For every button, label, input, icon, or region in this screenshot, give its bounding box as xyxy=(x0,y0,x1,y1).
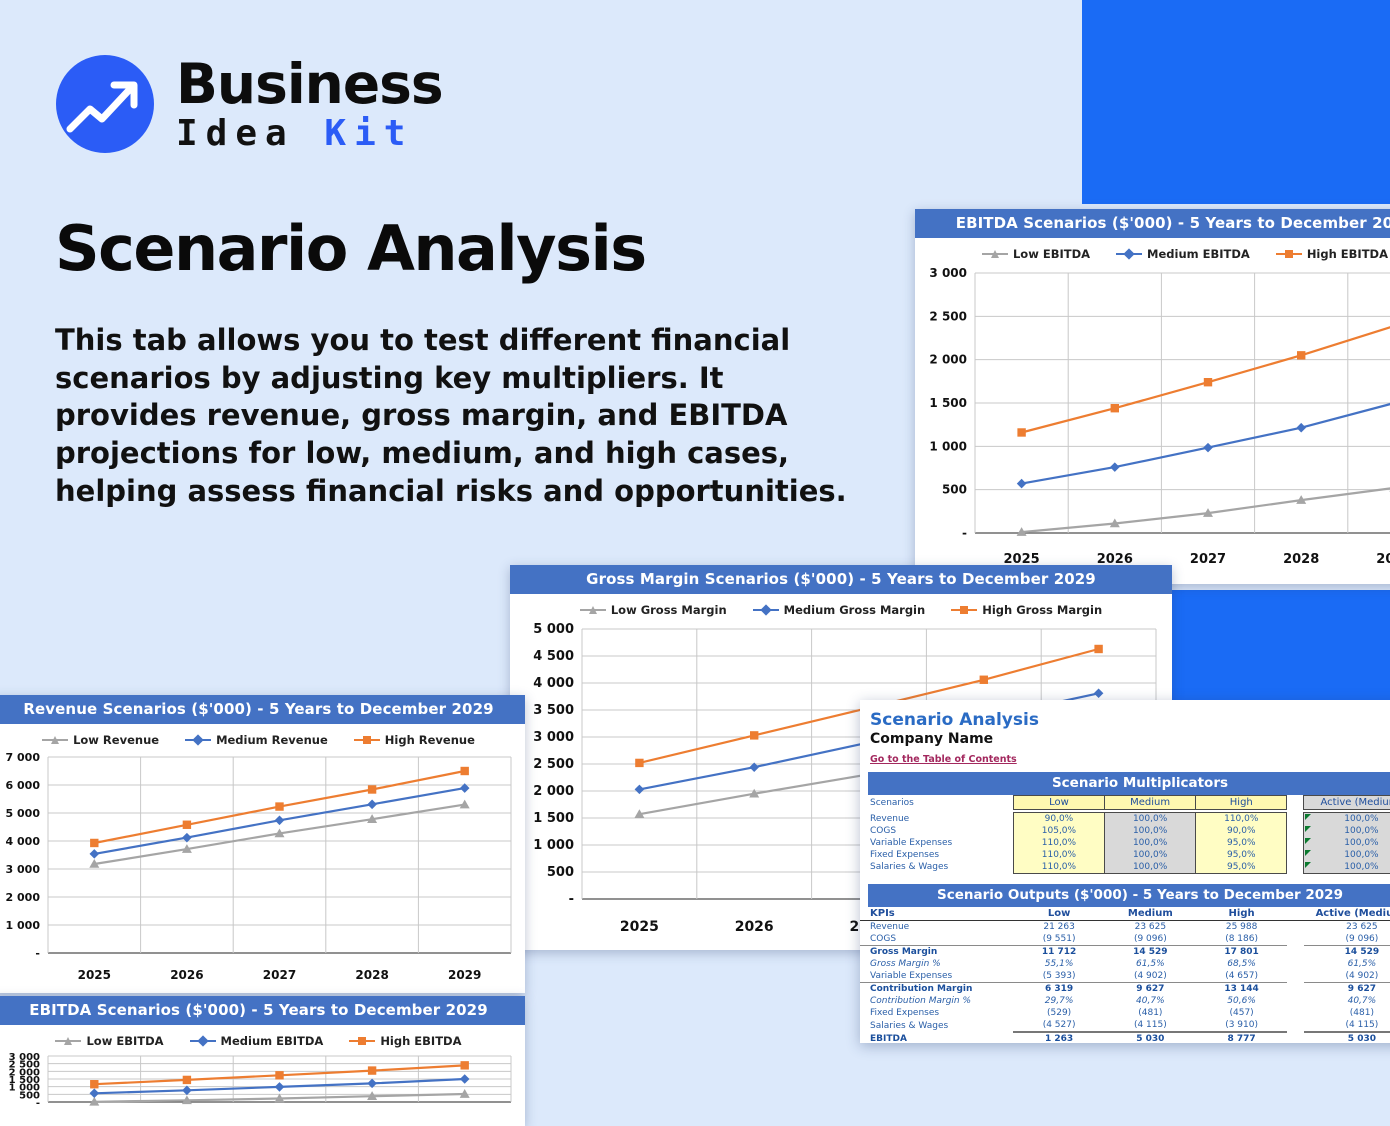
table-row: Salaries & Wages(4 527)(4 115)(3 910)(4 … xyxy=(860,1019,1390,1032)
svg-text:500: 500 xyxy=(942,483,967,497)
cell-high: 95,0% xyxy=(1196,849,1287,861)
legend-swatch-icon xyxy=(349,1036,375,1046)
svg-text:1 000: 1 000 xyxy=(6,919,41,932)
legend-item-square: High EBITDA xyxy=(349,1034,461,1048)
cell-medium: 23 625 xyxy=(1105,921,1196,934)
cell-high: 68,5% xyxy=(1196,958,1287,970)
column-header-low: Low xyxy=(1013,796,1104,810)
legend-label: Low Revenue xyxy=(73,733,159,747)
row-label: Fixed Expenses xyxy=(860,849,1013,861)
cell-active: 100,0% xyxy=(1303,837,1390,849)
brand-logo: Business Idea Kit xyxy=(56,55,443,153)
cell-active: 100,0% xyxy=(1303,813,1390,826)
legend-swatch-icon xyxy=(580,605,606,615)
legend-label: High Gross Margin xyxy=(982,603,1102,617)
legend-swatch-icon xyxy=(55,1036,81,1046)
cell-low: 55,1% xyxy=(1013,958,1104,970)
table-of-contents-link[interactable]: Go to the Table of Contents xyxy=(870,754,1017,765)
cell-high: 110,0% xyxy=(1196,813,1287,826)
cell-high: 50,6% xyxy=(1196,995,1287,1007)
row-label: Salaries & Wages xyxy=(860,1019,1013,1032)
table-row[interactable]: Fixed Expenses110,0%100,0%95,0%100,0% xyxy=(860,849,1390,861)
scenario-multiplicators-table: ScenariosLowMediumHighActive (Medium)Rev… xyxy=(860,795,1390,874)
cell-medium: (9 096) xyxy=(1105,933,1196,946)
chart-legend: Low EBITDAMedium EBITDAHigh EBITDA xyxy=(915,238,1390,265)
table-row: EBITDA1 2635 0308 7775 030 xyxy=(860,1032,1390,1043)
legend-label: High EBITDA xyxy=(1307,247,1388,261)
table-row: Contribution Margin6 3199 62713 1449 627 xyxy=(860,983,1390,996)
legend-swatch-icon xyxy=(982,249,1008,259)
table-row[interactable]: Revenue90,0%100,0%110,0%100,0% xyxy=(860,813,1390,826)
chart-legend: Low RevenueMedium RevenueHigh Revenue xyxy=(0,724,525,751)
svg-text:-: - xyxy=(962,526,967,540)
cell-active-value: (4 902) xyxy=(1304,970,1390,983)
cell-high: (457) xyxy=(1196,1007,1287,1019)
spacer-cell xyxy=(1287,849,1304,861)
svg-text:500: 500 xyxy=(547,865,574,880)
chart-legend: Low Gross MarginMedium Gross MarginHigh … xyxy=(510,594,1172,621)
cell-high: 13 144 xyxy=(1196,983,1287,996)
legend-swatch-icon xyxy=(42,735,68,745)
cell-low: (4 527) xyxy=(1013,1019,1104,1032)
cell-medium: (4 902) xyxy=(1105,970,1196,983)
row-label: Revenue xyxy=(860,921,1013,934)
legend-swatch-icon xyxy=(190,1036,216,1046)
svg-text:2 000: 2 000 xyxy=(6,891,41,904)
cell-low: (529) xyxy=(1013,1007,1104,1019)
legend-label: Medium EBITDA xyxy=(221,1034,324,1048)
cell-low: 105,0% xyxy=(1013,825,1104,837)
scenarios-row-label: Scenarios xyxy=(860,796,1013,810)
row-label: Fixed Expenses xyxy=(860,1007,1013,1019)
svg-text:2025: 2025 xyxy=(620,919,659,935)
svg-text:2026: 2026 xyxy=(170,968,203,982)
row-label: COGS xyxy=(860,825,1013,837)
legend-item-triangle: Low EBITDA xyxy=(55,1034,163,1048)
row-label: COGS xyxy=(860,933,1013,946)
chart-title: EBITDA Scenarios ($'000) - 5 Years to De… xyxy=(915,209,1390,238)
legend-item-diamond: Medium Revenue xyxy=(185,733,328,747)
sheet-company-name: Company Name xyxy=(870,731,1390,747)
table-row[interactable]: COGS105,0%100,0%90,0%100,0% xyxy=(860,825,1390,837)
legend-label: High EBITDA xyxy=(380,1034,461,1048)
legend-label: High Revenue xyxy=(385,733,475,747)
legend-item-square: High EBITDA xyxy=(1276,247,1388,261)
legend-item-square: High Revenue xyxy=(354,733,475,747)
svg-text:3 500: 3 500 xyxy=(533,703,574,718)
decorative-blue-block-top xyxy=(1082,0,1390,204)
legend-label: Low EBITDA xyxy=(1013,247,1090,261)
cell-active-value: (4 115) xyxy=(1304,1019,1390,1032)
svg-text:3 000: 3 000 xyxy=(533,730,574,745)
table-row: Fixed Expenses(529)(481)(457)(481) xyxy=(860,1007,1390,1019)
brand-subtitle-dark: Idea xyxy=(176,113,295,154)
svg-text:3 000: 3 000 xyxy=(6,863,41,876)
cell-low: 6 319 xyxy=(1013,983,1104,996)
svg-text:3 000: 3 000 xyxy=(9,1052,40,1063)
cell-high: 8 777 xyxy=(1196,1032,1287,1043)
svg-text:3 000: 3 000 xyxy=(929,266,967,280)
cell-low: 110,0% xyxy=(1013,837,1104,849)
cell-low: (5 393) xyxy=(1013,970,1104,983)
cell-high: 95,0% xyxy=(1196,861,1287,874)
scenario-outputs-table: KPIsLowMediumHighActive (Medium)Revenue2… xyxy=(860,907,1390,1043)
cell-medium: 5 030 xyxy=(1105,1032,1196,1043)
svg-text:5 000: 5 000 xyxy=(6,807,41,820)
chart-panel-ebitda-top: EBITDA Scenarios ($'000) - 5 Years to De… xyxy=(915,209,1390,584)
table-row: Revenue21 26323 62525 98823 625 xyxy=(860,921,1390,934)
svg-text:2025: 2025 xyxy=(78,968,111,982)
spacer-cell xyxy=(1287,796,1304,810)
brand-subtitle: Idea Kit xyxy=(176,116,443,152)
svg-text:-: - xyxy=(569,892,574,907)
svg-text:2026: 2026 xyxy=(735,919,774,935)
legend-swatch-icon xyxy=(951,605,977,615)
cell-low: 90,0% xyxy=(1013,813,1104,826)
legend-item-triangle: Low Revenue xyxy=(42,733,159,747)
row-label: Salaries & Wages xyxy=(860,861,1013,874)
table-row: ScenariosLowMediumHighActive (Medium) xyxy=(860,796,1390,810)
cell-active-value: 40,7% xyxy=(1304,995,1390,1007)
column-header-medium: Medium xyxy=(1105,907,1196,921)
cell-medium: 100,0% xyxy=(1105,837,1196,849)
brand-title: Business xyxy=(176,57,443,112)
spacer-cell xyxy=(1287,1007,1304,1019)
svg-text:2027: 2027 xyxy=(1190,552,1226,567)
cell-medium: 100,0% xyxy=(1105,861,1196,874)
svg-text:4 500: 4 500 xyxy=(533,649,574,664)
page-title: Scenario Analysis xyxy=(55,212,646,285)
cell-medium: 61,5% xyxy=(1105,958,1196,970)
row-label: Contribution Margin xyxy=(860,983,1013,996)
outputs-band: Scenario Outputs ($'000) - 5 Years to De… xyxy=(868,884,1390,907)
cell-high: (8 186) xyxy=(1196,933,1287,946)
row-label: Gross Margin % xyxy=(860,958,1013,970)
chart-title: EBITDA Scenarios ($'000) - 5 Years to De… xyxy=(0,996,525,1025)
spacer-cell xyxy=(1287,1019,1304,1032)
chart-panel-revenue: Revenue Scenarios ($'000) - 5 Years to D… xyxy=(0,695,525,993)
cell-active-value: (481) xyxy=(1304,1007,1390,1019)
legend-label: Medium Gross Margin xyxy=(784,603,926,617)
svg-text:1 500: 1 500 xyxy=(533,811,574,826)
spacer-cell xyxy=(1287,825,1304,837)
legend-label: Low EBITDA xyxy=(86,1034,163,1048)
svg-text:2028: 2028 xyxy=(1283,552,1319,567)
svg-text:2 500: 2 500 xyxy=(533,757,574,772)
svg-text:2028: 2028 xyxy=(355,968,388,982)
svg-text:4 000: 4 000 xyxy=(533,676,574,691)
legend-swatch-icon xyxy=(1116,249,1142,259)
cell-low: 29,7% xyxy=(1013,995,1104,1007)
table-row[interactable]: Salaries & Wages110,0%100,0%95,0%100,0% xyxy=(860,861,1390,874)
table-row: KPIsLowMediumHighActive (Medium) xyxy=(860,907,1390,921)
decorative-blue-block-middle xyxy=(1170,590,1390,700)
cell-active-value: 5 030 xyxy=(1304,1032,1390,1043)
svg-text:1 000: 1 000 xyxy=(929,439,967,453)
spacer-cell xyxy=(1287,946,1304,959)
spacer-cell xyxy=(1287,813,1304,826)
column-header-active: Active (Medium) xyxy=(1304,907,1390,921)
chart-panel-ebitda-bottom: EBITDA Scenarios ($'000) - 5 Years to De… xyxy=(0,996,525,1126)
svg-text:2029: 2029 xyxy=(448,968,481,982)
table-row: Gross Margin11 71214 52917 80114 529 xyxy=(860,946,1390,959)
spacer-cell xyxy=(1287,921,1304,934)
cell-high: 90,0% xyxy=(1196,825,1287,837)
cell-medium: 100,0% xyxy=(1105,813,1196,826)
cell-medium: 40,7% xyxy=(1105,995,1196,1007)
cell-low: 21 263 xyxy=(1013,921,1104,934)
spacer-cell xyxy=(1287,970,1304,983)
cell-low: 110,0% xyxy=(1013,861,1104,874)
svg-text:1 500: 1 500 xyxy=(929,396,967,410)
brand-subtitle-accent: Kit xyxy=(324,113,413,154)
svg-text:-: - xyxy=(35,947,40,960)
chart-title: Revenue Scenarios ($'000) - 5 Years to D… xyxy=(0,695,525,724)
scenario-analysis-sheet: Scenario Analysis Company Name Go to the… xyxy=(860,700,1390,1043)
chart-title: Gross Margin Scenarios ($'000) - 5 Years… xyxy=(510,565,1172,594)
table-row[interactable]: Variable Expenses110,0%100,0%95,0%100,0% xyxy=(860,837,1390,849)
svg-text:4 000: 4 000 xyxy=(6,835,41,848)
column-header-medium: Medium xyxy=(1105,796,1196,810)
svg-text:7 000: 7 000 xyxy=(6,751,41,764)
sheet-title: Scenario Analysis xyxy=(870,710,1390,730)
svg-text:5 000: 5 000 xyxy=(533,622,574,637)
legend-item-square: High Gross Margin xyxy=(951,603,1102,617)
cell-active-value: (9 096) xyxy=(1304,933,1390,946)
growth-arrow-icon xyxy=(56,55,154,153)
cell-active: 100,0% xyxy=(1303,861,1390,874)
cell-active-value: 9 627 xyxy=(1304,983,1390,996)
cell-medium: (481) xyxy=(1105,1007,1196,1019)
cell-high: 95,0% xyxy=(1196,837,1287,849)
page-description: This tab allows you to test different fi… xyxy=(55,322,855,510)
cell-high: (4 657) xyxy=(1196,970,1287,983)
table-row: Contribution Margin %29,7%40,7%50,6%40,7… xyxy=(860,995,1390,1007)
cell-medium: (4 115) xyxy=(1105,1019,1196,1032)
spacer-cell xyxy=(1287,958,1304,970)
column-header-low: Low xyxy=(1013,907,1104,921)
legend-label: Medium Revenue xyxy=(216,733,328,747)
legend-swatch-icon xyxy=(1276,249,1302,259)
column-header-high: High xyxy=(1196,796,1287,810)
cell-high: 17 801 xyxy=(1196,946,1287,959)
legend-item-diamond: Medium EBITDA xyxy=(1116,247,1250,261)
row-label: EBITDA xyxy=(860,1032,1013,1043)
cell-active: 100,0% xyxy=(1303,849,1390,861)
svg-text:2 500: 2 500 xyxy=(929,309,967,323)
svg-text:2029: 2029 xyxy=(1376,552,1390,567)
legend-swatch-icon xyxy=(753,605,779,615)
multiplicators-band: Scenario Multiplicators xyxy=(868,772,1390,795)
svg-text:2027: 2027 xyxy=(263,968,296,982)
row-label: Contribution Margin % xyxy=(860,995,1013,1007)
cell-low: 110,0% xyxy=(1013,849,1104,861)
cell-low: 11 712 xyxy=(1013,946,1104,959)
table-row: Variable Expenses(5 393)(4 902)(4 657)(4… xyxy=(860,970,1390,983)
cell-active-value: 23 625 xyxy=(1304,921,1390,934)
legend-item-diamond: Medium EBITDA xyxy=(190,1034,324,1048)
spacer-cell xyxy=(1287,995,1304,1007)
table-row: COGS(9 551)(9 096)(8 186)(9 096) xyxy=(860,933,1390,946)
cell-low: (9 551) xyxy=(1013,933,1104,946)
svg-text:1 000: 1 000 xyxy=(533,838,574,853)
chart-plot-area: -5001 0001 5002 0002 5003 00020252026202… xyxy=(915,265,1390,575)
kpis-row-label: KPIs xyxy=(860,907,1013,921)
legend-item-triangle: Low Gross Margin xyxy=(580,603,727,617)
spacer-cell xyxy=(1287,1032,1304,1043)
spacer-cell xyxy=(1287,933,1304,946)
cell-high: 25 988 xyxy=(1196,921,1287,934)
svg-text:6 000: 6 000 xyxy=(6,779,41,792)
legend-item-triangle: Low EBITDA xyxy=(982,247,1090,261)
svg-text:2 000: 2 000 xyxy=(533,784,574,799)
cell-active-value: 14 529 xyxy=(1304,946,1390,959)
chart-legend: Low EBITDAMedium EBITDAHigh EBITDA xyxy=(0,1025,525,1052)
cell-medium: 14 529 xyxy=(1105,946,1196,959)
svg-text:2 000: 2 000 xyxy=(929,353,967,367)
legend-swatch-icon xyxy=(354,735,380,745)
cell-active: 100,0% xyxy=(1303,825,1390,837)
cell-medium: 9 627 xyxy=(1105,983,1196,996)
cell-low: 1 263 xyxy=(1013,1032,1104,1043)
table-row: Gross Margin %55,1%61,5%68,5%61,5% xyxy=(860,958,1390,970)
column-header-high: High xyxy=(1196,907,1287,921)
spacer-cell xyxy=(1287,983,1304,996)
legend-swatch-icon xyxy=(185,735,211,745)
legend-label: Low Gross Margin xyxy=(611,603,727,617)
cell-high: (3 910) xyxy=(1196,1019,1287,1032)
row-label: Variable Expenses xyxy=(860,837,1013,849)
spacer-cell xyxy=(1287,837,1304,849)
row-label: Gross Margin xyxy=(860,946,1013,959)
legend-label: Medium EBITDA xyxy=(1147,247,1250,261)
row-label: Revenue xyxy=(860,813,1013,826)
legend-item-diamond: Medium Gross Margin xyxy=(753,603,926,617)
cell-medium: 100,0% xyxy=(1105,825,1196,837)
spacer-cell xyxy=(1287,907,1304,921)
row-label: Variable Expenses xyxy=(860,970,1013,983)
cell-medium: 100,0% xyxy=(1105,849,1196,861)
spacer-cell xyxy=(1287,861,1304,874)
chart-plot-area: -1 0002 0003 0004 0005 0006 0007 0002025… xyxy=(0,751,525,991)
cell-active-value: 61,5% xyxy=(1304,958,1390,970)
column-header-active: Active (Medium) xyxy=(1303,796,1390,810)
chart-plot-area: -5001 0001 5002 0002 5003 000 xyxy=(0,1052,525,1112)
